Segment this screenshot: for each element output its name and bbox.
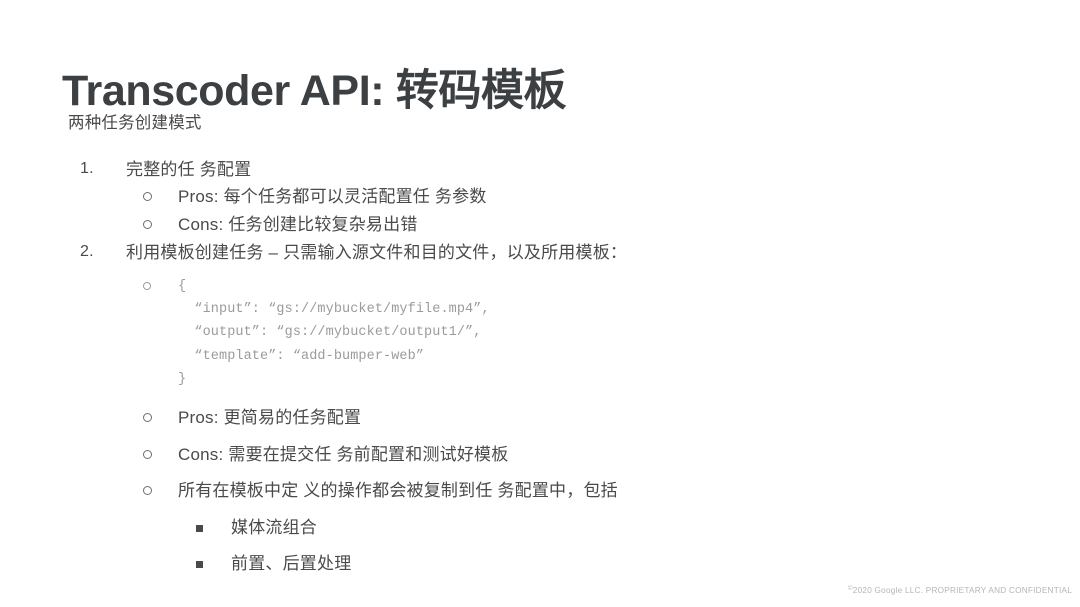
spacer bbox=[68, 468, 1040, 477]
square-bullet-icon bbox=[196, 550, 203, 578]
list-item-label: 完整的任 务配置 bbox=[126, 160, 251, 179]
code-line-open-brace: { bbox=[178, 279, 186, 294]
footer-text: 2020 Google LLC. PROPRIETARY AND CONFIDE… bbox=[853, 586, 1072, 595]
code-line-template: “template”: “add-bumper-web” bbox=[178, 349, 424, 364]
list-number-marker: 1. bbox=[80, 156, 108, 182]
spacer bbox=[68, 266, 1040, 275]
spacer bbox=[68, 432, 1040, 441]
slide-canvas: Transcoder API: 转码模板 两种任务创建模式 1. 完整的任 务配… bbox=[0, 0, 1080, 607]
circle-bullet-icon bbox=[143, 211, 152, 239]
code-sample-item: { “input”: “gs://mybucket/myfile.mp4”, “… bbox=[68, 275, 1040, 391]
slide-body: 两种任务创建模式 1. 完整的任 务配置 Pros: 每个任务都可以灵活配置任 … bbox=[68, 112, 1040, 578]
spacer bbox=[68, 541, 1040, 550]
code-block: { “input”: “gs://mybucket/myfile.mp4”, “… bbox=[178, 275, 1040, 391]
list-item-label: 利用模板创建任务 – 只需输入源文件和目的文件，以及所用模板： bbox=[126, 243, 627, 262]
list-item: Pros: 每个任务都可以灵活配置任 务参数 bbox=[68, 183, 1040, 211]
sub-list: Pros: 每个任务都可以灵活配置任 务参数 Cons: 任务创建比较复杂易出错 bbox=[68, 183, 1040, 238]
circle-bullet-icon bbox=[143, 441, 152, 469]
list-item-label: 前置、后置处理 bbox=[231, 554, 351, 573]
list-item: 1. 完整的任 务配置 bbox=[68, 156, 1040, 184]
page-title: Transcoder API: 转码模板 bbox=[62, 67, 566, 116]
list-item: 媒体流组合 bbox=[68, 514, 1040, 542]
outline-list: 1. 完整的任 务配置 Pros: 每个任务都可以灵活配置任 务参数 Cons:… bbox=[68, 156, 1040, 578]
code-line-close-brace: } bbox=[178, 372, 186, 387]
square-bullet-icon bbox=[196, 514, 203, 542]
list-item: Pros: 更简易的任务配置 bbox=[68, 404, 1040, 432]
circle-bullet-icon bbox=[143, 278, 151, 294]
lead-paragraph: 两种任务创建模式 bbox=[68, 112, 1040, 136]
list-item-label: 所有在模板中定 义的操作都会被复制到任 务配置中，包括 bbox=[178, 481, 618, 500]
list-item: 前置、后置处理 bbox=[68, 550, 1040, 578]
circle-bullet-icon bbox=[143, 183, 152, 211]
list-item: 2. 利用模板创建任务 – 只需输入源文件和目的文件，以及所用模板： bbox=[68, 239, 1040, 267]
circle-bullet-icon bbox=[143, 477, 152, 505]
sub-list: Pros: 更简易的任务配置 Cons: 需要在提交任 务前配置和测试好模板 所… bbox=[68, 404, 1040, 505]
list-item: Cons: 任务创建比较复杂易出错 bbox=[68, 211, 1040, 239]
list-item: 所有在模板中定 义的操作都会被复制到任 务配置中，包括 bbox=[68, 477, 1040, 505]
list-number-marker: 2. bbox=[80, 239, 108, 265]
list-item-label: Cons: 需要在提交任 务前配置和测试好模板 bbox=[178, 445, 508, 464]
list-item-label: Pros: 每个任务都可以灵活配置任 务参数 bbox=[178, 187, 487, 206]
list-item-label: Cons: 任务创建比较复杂易出错 bbox=[178, 215, 418, 234]
spacer bbox=[68, 391, 1040, 404]
sub-sub-list: 媒体流组合 前置、后置处理 bbox=[68, 514, 1040, 578]
code-line-input: “input”: “gs://mybucket/myfile.mp4”, bbox=[178, 302, 490, 317]
list-item-label: Pros: 更简易的任务配置 bbox=[178, 408, 361, 427]
list-item: Cons: 需要在提交任 务前配置和测试好模板 bbox=[68, 441, 1040, 469]
footer-copyright: ©2020 Google LLC. PROPRIETARY AND CONFID… bbox=[848, 585, 1072, 595]
code-line-output: “output”: “gs://mybucket/output1/”, bbox=[178, 325, 481, 340]
spacer bbox=[68, 505, 1040, 514]
list-item-label: 媒体流组合 bbox=[231, 518, 317, 537]
circle-bullet-icon bbox=[143, 404, 152, 432]
